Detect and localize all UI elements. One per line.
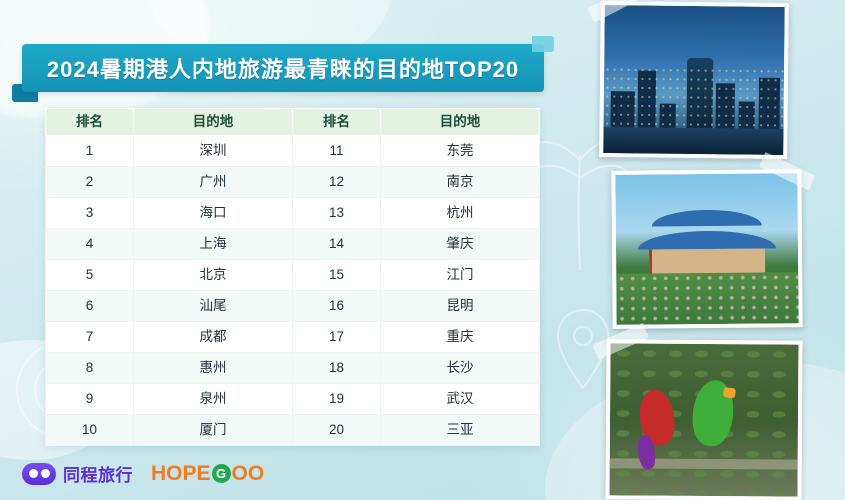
- title-tab-right: [532, 36, 554, 52]
- hopegoo-o1: O: [232, 462, 248, 485]
- cell-dest-right: 长沙: [380, 353, 539, 384]
- cell-dest-right: 昆明: [380, 291, 539, 322]
- table-header-destination-left: 目的地: [134, 109, 293, 136]
- cell-rank-right: 11: [292, 136, 380, 167]
- cell-dest-left: 泉州: [134, 384, 293, 415]
- logo-hopegoo: HOPEGOO: [151, 462, 264, 486]
- cell-rank-left: 10: [46, 415, 134, 446]
- table-header-rank-left: 排名: [46, 109, 134, 136]
- destinations-table: 排名 目的地 排名 目的地 1 深圳 11 东莞 2 广州 12 南京 3 海口: [45, 108, 540, 446]
- cell-dest-left: 海口: [134, 198, 293, 229]
- table-header-row: 排名 目的地 排名 目的地: [46, 109, 540, 136]
- cell-dest-right: 重庆: [380, 322, 539, 353]
- table-row: 6 汕尾 16 昆明: [46, 291, 540, 322]
- cell-rank-left: 5: [46, 260, 134, 291]
- hopegoo-label: HOPEGOO: [151, 462, 264, 486]
- cell-dest-left: 深圳: [134, 136, 293, 167]
- logo-tongcheng: 同程旅行: [22, 461, 133, 486]
- cell-dest-left: 汕尾: [134, 291, 293, 322]
- title-banner: 2024暑期港人内地旅游最青睐的目的地TOP20: [12, 44, 552, 92]
- poster-canvas: 2024暑期港人内地旅游最青睐的目的地TOP20 排名 目的地 排名 目的地 1…: [0, 0, 845, 500]
- cell-dest-right: 东莞: [380, 136, 539, 167]
- cell-dest-right: 肇庆: [380, 229, 539, 260]
- cell-dest-right: 武汉: [380, 384, 539, 415]
- cell-rank-left: 4: [46, 229, 134, 260]
- cell-rank-left: 7: [46, 322, 134, 353]
- cell-rank-left: 3: [46, 198, 134, 229]
- hopegoo-h: H: [151, 462, 166, 485]
- photo-shenzhen-skyline: [599, 1, 789, 159]
- table-row: 9 泉州 19 武汉: [46, 384, 540, 415]
- cell-dest-right: 南京: [380, 167, 539, 198]
- cell-dest-left: 北京: [134, 260, 293, 291]
- page-title: 2024暑期港人内地旅游最青睐的目的地TOP20: [47, 52, 519, 84]
- cell-rank-right: 19: [292, 384, 380, 415]
- tongcheng-mark-icon: [22, 463, 56, 485]
- photo-image: [609, 343, 798, 496]
- photo-memorial-hall: [611, 169, 802, 329]
- hopegoo-o2: O: [248, 462, 264, 485]
- cell-rank-right: 12: [292, 167, 380, 198]
- cell-rank-right: 13: [292, 198, 380, 229]
- hopegoo-g-badge: G: [212, 464, 231, 483]
- footer-logos: 同程旅行 HOPEGOO: [22, 461, 264, 486]
- table-header-rank-right: 排名: [292, 109, 380, 136]
- tongcheng-label: 同程旅行: [63, 461, 133, 486]
- cell-rank-right: 14: [292, 229, 380, 260]
- cell-rank-right: 15: [292, 260, 380, 291]
- table-row: 4 上海 14 肇庆: [46, 229, 540, 260]
- table-row: 3 海口 13 杭州: [46, 198, 540, 229]
- photo-image: [615, 173, 798, 325]
- table-row: 8 惠州 18 长沙: [46, 353, 540, 384]
- cell-rank-left: 6: [46, 291, 134, 322]
- table-row: 10 厦门 20 三亚: [46, 415, 540, 446]
- cell-rank-right: 18: [292, 353, 380, 384]
- cell-rank-right: 20: [292, 415, 380, 446]
- photo-image: [603, 5, 785, 155]
- cell-rank-right: 17: [292, 322, 380, 353]
- table-row: 5 北京 15 江门: [46, 260, 540, 291]
- photo-parrots: [605, 339, 802, 500]
- cell-rank-left: 1: [46, 136, 134, 167]
- cell-dest-left: 上海: [134, 229, 293, 260]
- table-row: 7 成都 17 重庆: [46, 322, 540, 353]
- table-row: 2 广州 12 南京: [46, 167, 540, 198]
- cell-rank-left: 9: [46, 384, 134, 415]
- cell-dest-right: 杭州: [380, 198, 539, 229]
- cell-rank-left: 2: [46, 167, 134, 198]
- cell-dest-left: 惠州: [134, 353, 293, 384]
- cell-dest-right: 三亚: [380, 415, 539, 446]
- title-bar: 2024暑期港人内地旅游最青睐的目的地TOP20: [22, 44, 544, 92]
- cell-dest-left: 广州: [134, 167, 293, 198]
- table-header-destination-right: 目的地: [380, 109, 539, 136]
- cell-dest-left: 厦门: [134, 415, 293, 446]
- cell-rank-right: 16: [292, 291, 380, 322]
- cell-dest-right: 江门: [380, 260, 539, 291]
- cell-rank-left: 8: [46, 353, 134, 384]
- hopegoo-ope: OPE: [166, 462, 210, 485]
- cell-dest-left: 成都: [134, 322, 293, 353]
- table-row: 1 深圳 11 东莞: [46, 136, 540, 167]
